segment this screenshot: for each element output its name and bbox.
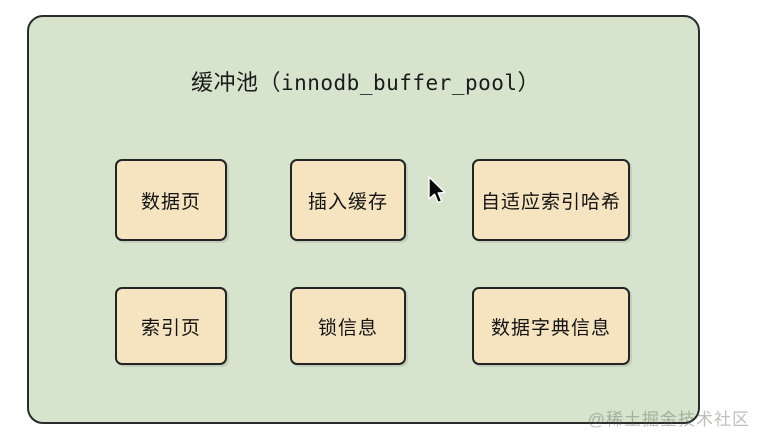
- component-label-insert-buffer: 插入缓存: [308, 187, 388, 214]
- buffer-pool-title-paren-close: ）: [518, 70, 541, 95]
- buffer-pool-title: 缓冲池（innodb_buffer_pool）: [29, 69, 702, 97]
- component-label-data-page: 数据页: [141, 187, 201, 214]
- watermark-label: @稀土掘金技术社区: [588, 405, 750, 430]
- buffer-pool-title-mono: innodb_buffer_pool: [281, 71, 518, 95]
- component-box-lock-info[interactable]: 锁信息: [290, 287, 406, 365]
- component-label-adaptive-hash: 自适应索引哈希: [481, 187, 621, 214]
- component-box-insert-buffer[interactable]: 插入缓存: [290, 159, 406, 241]
- component-label-lock-info: 锁信息: [318, 313, 378, 340]
- component-box-adaptive-hash[interactable]: 自适应索引哈希: [472, 159, 630, 241]
- buffer-pool-container: 缓冲池（innodb_buffer_pool） 数据页 插入缓存 自适应索引哈希…: [27, 15, 700, 424]
- component-label-index-page: 索引页: [141, 313, 201, 340]
- component-box-index-page[interactable]: 索引页: [115, 287, 227, 365]
- component-label-dictionary-info: 数据字典信息: [491, 313, 611, 340]
- component-box-data-page[interactable]: 数据页: [115, 159, 227, 241]
- buffer-pool-title-cn: 缓冲池: [191, 70, 259, 95]
- buffer-pool-title-paren-open: （: [258, 70, 281, 95]
- component-box-dictionary-info[interactable]: 数据字典信息: [472, 287, 630, 365]
- diagram-canvas: 缓冲池（innodb_buffer_pool） 数据页 插入缓存 自适应索引哈希…: [0, 0, 764, 438]
